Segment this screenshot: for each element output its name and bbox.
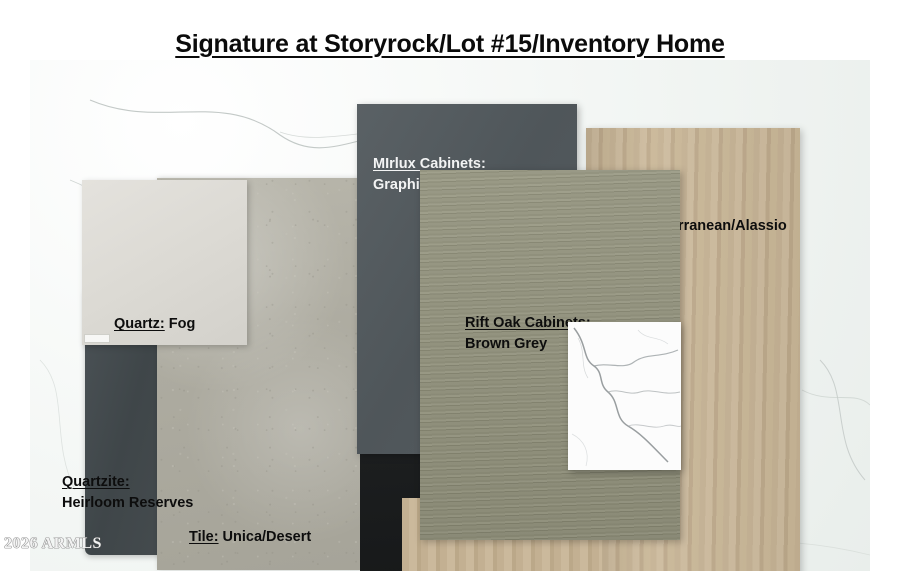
quartzite-label-value: Heirloom Reserves <box>62 493 193 514</box>
quartzite-veining <box>568 322 681 470</box>
quartz-sample-label: Quartz:Fog <box>114 314 195 335</box>
quartz-label-value: Fog <box>169 316 196 332</box>
quartzite-sample-label: Quartzite: Heirloom Reserves <box>62 472 193 513</box>
tile-label-value: Unica/Desert <box>223 529 312 545</box>
quartzite-sample[interactable] <box>568 322 681 470</box>
tile-sample-label: Tile:Unica/Desert <box>189 527 311 548</box>
finish-board-photo: Tile:Unica/Desert Quartz:Fog MIrlux Cabi… <box>30 60 870 571</box>
quartz-label-key: Quartz: <box>114 316 165 332</box>
tile-label-key: Tile: <box>189 529 219 545</box>
quartzite-label-key: Quartzite: <box>62 472 193 493</box>
page-title-text: Signature at Storyrock/Lot #15/Inventory… <box>175 30 724 59</box>
quartz-sample[interactable]: Quartz:Fog <box>82 180 247 345</box>
